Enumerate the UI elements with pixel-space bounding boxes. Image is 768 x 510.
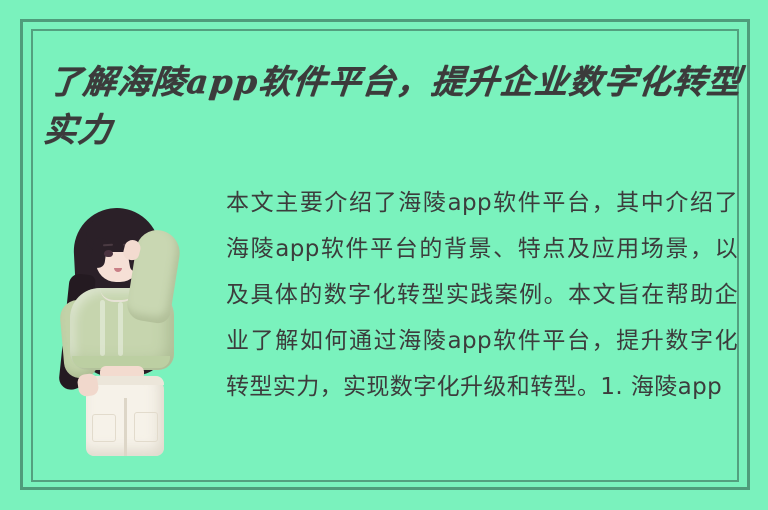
page-title: 了解海陵app软件平台，提升企业数字化转型实力 xyxy=(41,58,751,154)
shorts-pocket-left xyxy=(92,414,116,442)
article-illustration xyxy=(56,188,208,456)
shorts-center-seam xyxy=(124,398,127,456)
knit-texture-line-b xyxy=(118,302,123,356)
illustration-background xyxy=(56,188,208,456)
article-body-text: 本文主要介绍了海陵app软件平台，其中介绍了海陵app软件平台的背景、特点及应用… xyxy=(226,180,738,410)
eye-left xyxy=(104,250,113,257)
knit-texture-line-a xyxy=(100,300,105,356)
shorts-pocket-right xyxy=(134,412,158,442)
article-card: 了解海陵app软件平台，提升企业数字化转型实力 xyxy=(0,0,768,510)
